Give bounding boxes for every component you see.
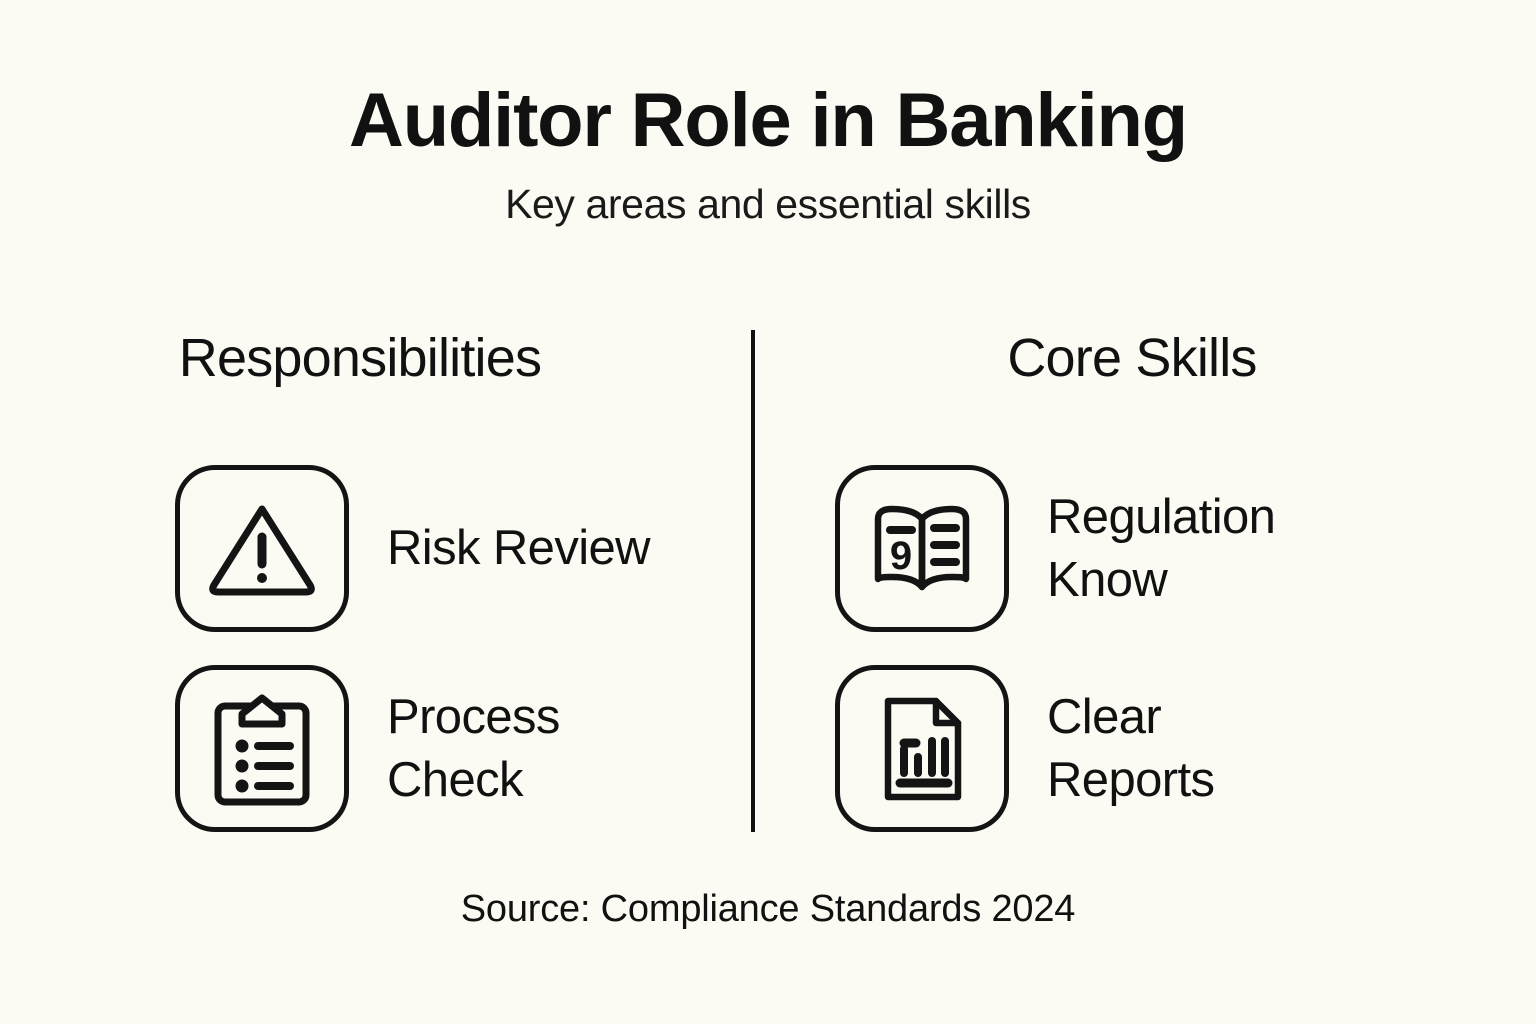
responsibilities-list: Risk Review	[175, 449, 752, 849]
list-item[interactable]: Risk Review	[175, 449, 752, 649]
list-item-label: Process Check	[387, 686, 560, 811]
list-item[interactable]: Process Check	[175, 649, 752, 849]
column-heading-responsibilities: Responsibilities	[20, 330, 700, 387]
list-item-label: Regulation Know	[1047, 486, 1275, 611]
column-responsibilities: Responsibilities Risk Review	[0, 330, 752, 849]
column-core-skills: Core Skills 9 Regula	[752, 330, 1536, 849]
infographic-canvas: Auditor Role in Banking Key areas and es…	[0, 0, 1536, 1024]
core-skills-list: 9 Regulation Know	[835, 449, 1536, 849]
list-item-label: Clear Reports	[1047, 686, 1214, 811]
list-item[interactable]: 9 Regulation Know	[835, 449, 1536, 649]
clipboard-checklist-icon	[175, 665, 349, 832]
header: Auditor Role in Banking Key areas and es…	[0, 82, 1536, 227]
page-subtitle: Key areas and essential skills	[0, 182, 1536, 227]
svg-text:9: 9	[890, 534, 912, 578]
warning-triangle-icon	[175, 465, 349, 632]
list-item[interactable]: Clear Reports	[835, 649, 1536, 849]
footer: Source: Compliance Standards 2024	[0, 888, 1536, 931]
list-item-label: Risk Review	[387, 517, 650, 580]
columns-container: Responsibilities Risk Review	[0, 330, 1536, 835]
page-title: Auditor Role in Banking	[0, 82, 1536, 160]
open-book-icon: 9	[835, 465, 1009, 632]
source-note: Source: Compliance Standards 2024	[0, 888, 1536, 931]
column-heading-core-skills: Core Skills	[832, 330, 1432, 387]
document-bar-chart-icon	[835, 665, 1009, 832]
